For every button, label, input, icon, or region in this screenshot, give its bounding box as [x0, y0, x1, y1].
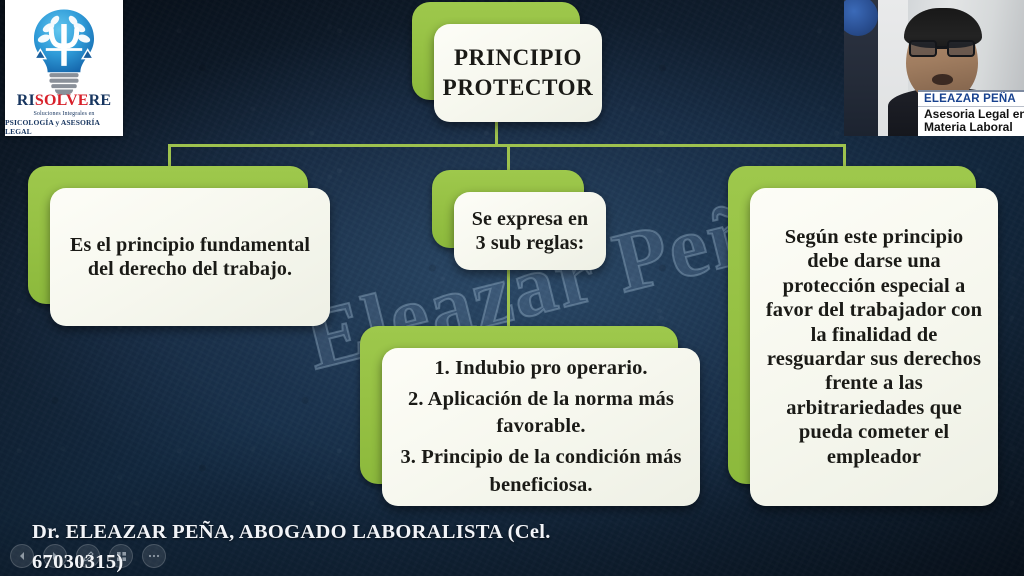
logo-tagline-line2: PSICOLOGÍA y ASESORÍA LEGAL	[5, 118, 123, 136]
node-card: PRINCIPIO PROTECTOR	[434, 24, 602, 122]
speaker-role: Asesoria Legal en Materia Laboral	[918, 106, 1024, 136]
title-line-1: PRINCIPIO	[454, 45, 582, 70]
webcam-video-overlay[interactable]: ELEAZAR PEÑA Asesoria Legal en Materia L…	[844, 0, 1024, 136]
title-line-2: PROTECTOR	[443, 75, 594, 100]
glasses-right-lens	[947, 40, 975, 57]
left-node-text: Es el principio fundamental del derecho …	[64, 233, 316, 282]
node-sub-reglas-list[interactable]: 1. Indubio pro operario. 2. Aplicación d…	[360, 326, 678, 484]
list-item: 1. Indubio pro operario.	[396, 355, 686, 383]
logo-wordmark: RISOLVERE	[17, 93, 112, 109]
list-item: 2. Aplicación de la norma más favorable.	[396, 386, 686, 441]
lightbulb-tree-scales-icon	[18, 4, 110, 95]
middle-node-text: Se expresa en 3 sub reglas:	[468, 207, 592, 256]
risolvere-logo: RISOLVERE Soluciones Integrales en PSICO…	[5, 0, 123, 136]
rules-list: 1. Indubio pro operario. 2. Aplicación d…	[396, 352, 686, 502]
glasses-icon	[908, 40, 978, 57]
node-se-expresa-en-3-sub-reglas[interactable]: Se expresa en 3 sub reglas:	[432, 170, 584, 248]
node-principio-fundamental[interactable]: Es el principio fundamental del derecho …	[28, 166, 308, 304]
logo-brand-part3: RE	[89, 92, 112, 109]
node-card: Se expresa en 3 sub reglas:	[454, 192, 606, 270]
more-options-icon[interactable]	[142, 544, 166, 568]
logo-brand-part1: RI	[17, 92, 35, 109]
node-card: Es el principio fundamental del derecho …	[50, 188, 330, 326]
previous-slide-icon[interactable]	[10, 544, 34, 568]
node-card: 1. Indubio pro operario. 2. Aplicación d…	[382, 348, 700, 506]
speaker-name-banner: ELEAZAR PEÑA Asesoria Legal en Materia L…	[918, 90, 1024, 136]
node-card: Según este principio debe darse una prot…	[750, 188, 998, 506]
pen-icon[interactable]	[76, 544, 100, 568]
slideshow-controls[interactable]	[10, 544, 166, 568]
speaker-name: ELEAZAR PEÑA	[918, 90, 1024, 106]
logo-brand-part2: SOLVE	[35, 92, 89, 109]
next-slide-icon[interactable]	[43, 544, 67, 568]
node-proteccion-especial[interactable]: Según este principio debe darse una prot…	[728, 166, 976, 484]
speaker-role-line1: Asesoria Legal en	[924, 107, 1024, 121]
all-slides-icon[interactable]	[109, 544, 133, 568]
connector-middle-drop	[507, 144, 510, 172]
right-node-text: Según este principio debe darse una prot…	[764, 225, 984, 469]
speaker-role-line2: Materia Laboral	[924, 120, 1013, 134]
glasses-left-lens	[909, 40, 937, 57]
node-title-text: PRINCIPIO PROTECTOR	[443, 43, 594, 103]
webcam-mouth	[932, 74, 953, 85]
presentation-slide: Eleazar Peña PRINCIPIO PROTECTOR Es el p…	[0, 0, 1024, 576]
node-principio-protector[interactable]: PRINCIPIO PROTECTOR	[412, 2, 580, 100]
logo-tagline-line1: Soluciones Integrales en	[33, 111, 94, 117]
list-item: 3. Principio de la condición más benefic…	[396, 444, 686, 499]
